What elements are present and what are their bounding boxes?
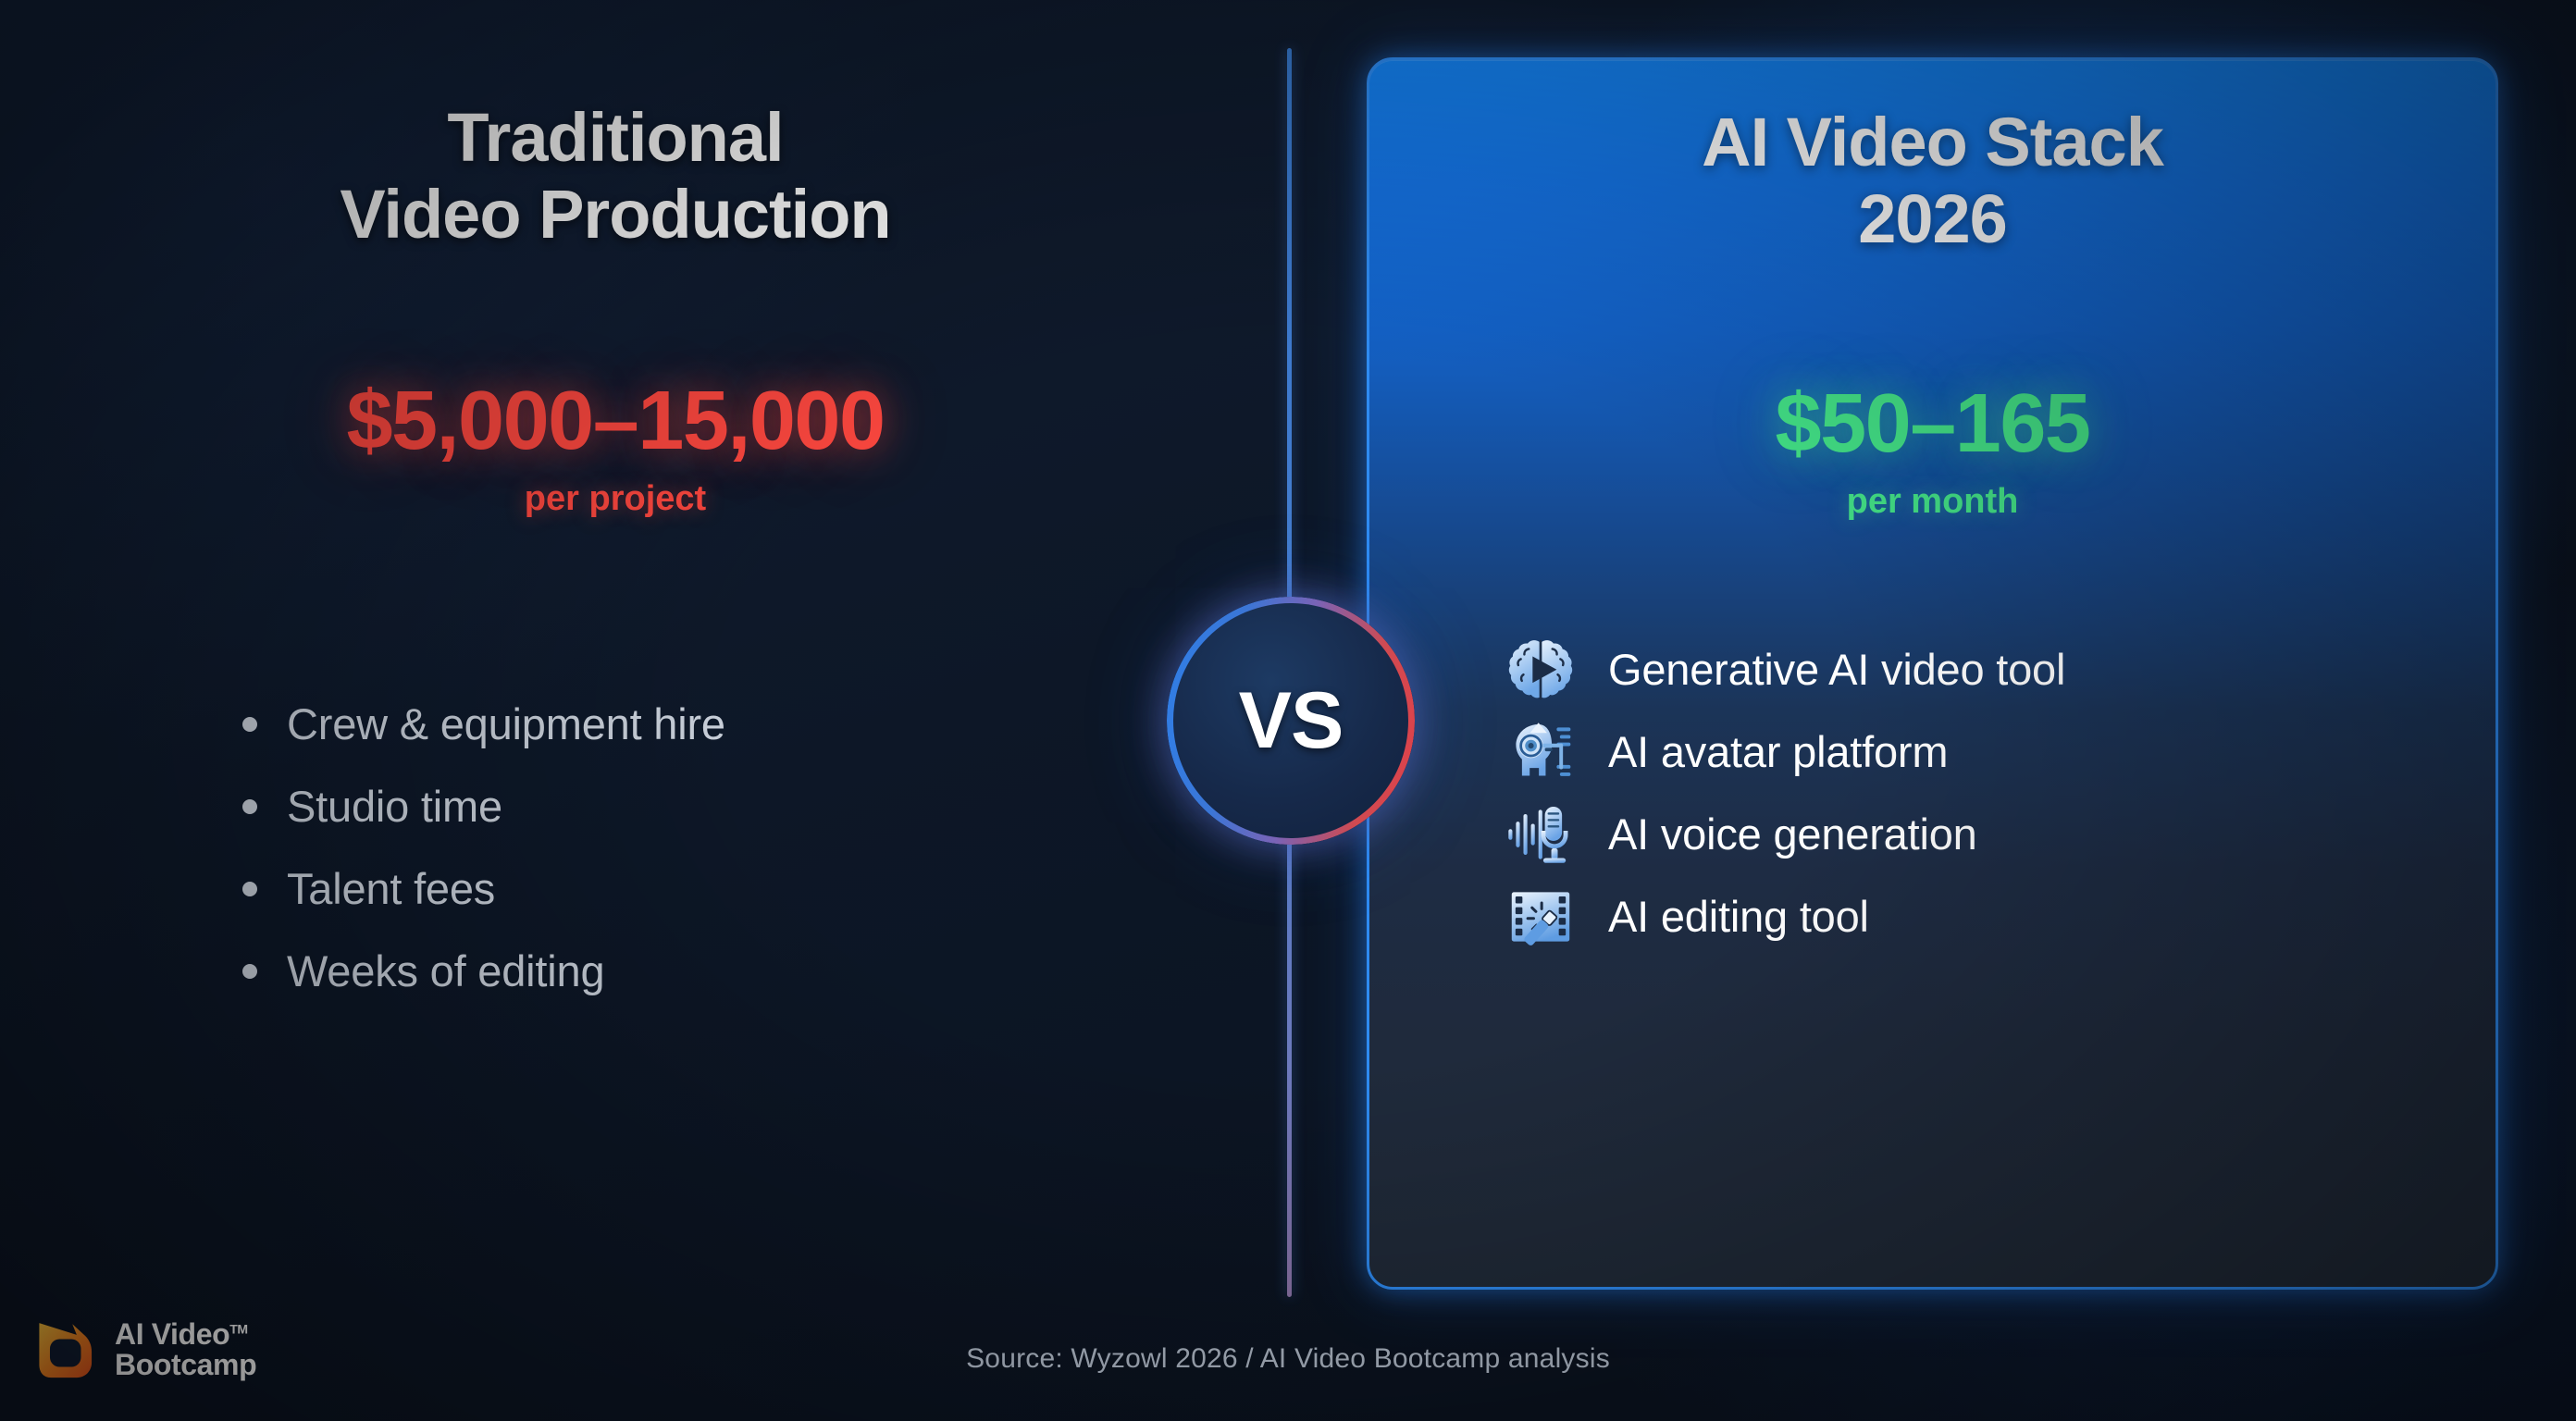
list-item: Generative AI video tool	[1505, 628, 2485, 710]
traditional-cost-list: Crew & equipment hire Studio time Talent…	[242, 683, 1168, 1012]
source-caption: Source: Wyzowl 2026 / AI Video Bootcamp …	[0, 1343, 2576, 1375]
ai-stack-feature-list: Generative AI video tool	[1505, 628, 2485, 958]
vs-badge: VS	[1167, 597, 1415, 845]
brand-logo: AI VideoTMBootcamp	[30, 1316, 256, 1384]
list-item: AI editing tool	[1505, 875, 2485, 958]
ai-avatar-head-icon	[1505, 716, 1577, 788]
list-item-label: Studio time	[287, 781, 502, 832]
ai-stack-price-block: $50–165 per month	[1369, 382, 2495, 522]
microphone-waveform-icon	[1505, 798, 1577, 871]
list-item-label: Weeks of editing	[287, 945, 604, 996]
bullet-dot-icon	[242, 799, 257, 814]
list-item-label: AI avatar platform	[1608, 726, 1948, 777]
film-strip-wand-icon	[1505, 881, 1577, 953]
traditional-column: Traditional Video Production $5,000–15,0…	[0, 0, 1231, 1295]
brain-play-icon	[1505, 634, 1577, 706]
list-item: AI avatar platform	[1505, 710, 2485, 793]
brand-logo-line2: Bootcamp	[115, 1348, 256, 1381]
ai-video-bootcamp-mark-icon	[30, 1316, 98, 1384]
list-item: Talent fees	[242, 847, 1168, 930]
list-item-label: AI editing tool	[1608, 891, 1869, 942]
list-item-label: AI voice generation	[1608, 809, 1977, 859]
bullet-dot-icon	[242, 964, 257, 979]
ai-stack-panel: AI Video Stack 2026 $50–165 per month	[1367, 57, 2498, 1290]
bullet-dot-icon	[242, 717, 257, 732]
ai-stack-price: $50–165	[1369, 382, 2495, 465]
traditional-title: Traditional Video Production	[0, 100, 1231, 253]
traditional-price-unit: per project	[0, 479, 1231, 519]
vs-label: VS	[1239, 675, 1344, 767]
list-item-label: Crew & equipment hire	[287, 698, 725, 749]
ai-stack-title: AI Video Stack 2026	[1369, 105, 2495, 258]
brand-logo-line1: AI Video	[115, 1317, 229, 1351]
brand-logo-text: AI VideoTMBootcamp	[115, 1319, 256, 1381]
list-item-label: Generative AI video tool	[1608, 644, 2065, 695]
list-item: AI voice generation	[1505, 793, 2485, 875]
list-item-label: Talent fees	[287, 863, 495, 914]
trademark-mark: TM	[229, 1321, 247, 1336]
infographic-canvas: Traditional Video Production $5,000–15,0…	[0, 0, 2576, 1421]
list-item: Weeks of editing	[242, 930, 1168, 1012]
traditional-price-block: $5,000–15,000 per project	[0, 379, 1231, 519]
ai-stack-price-unit: per month	[1369, 482, 2495, 522]
list-item: Crew & equipment hire	[242, 683, 1168, 765]
list-item: Studio time	[242, 765, 1168, 847]
traditional-price: $5,000–15,000	[0, 379, 1231, 463]
bullet-dot-icon	[242, 882, 257, 896]
